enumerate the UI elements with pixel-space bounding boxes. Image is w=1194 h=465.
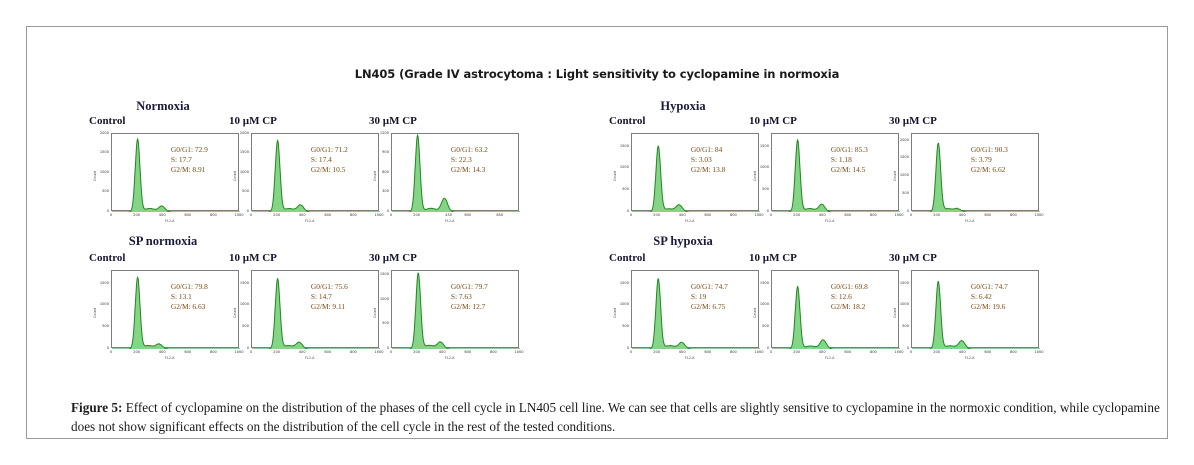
y-axis-label: Count <box>373 308 377 318</box>
plot-area: G0/G1: 74.7S: 6.42G2/M: 19.6 <box>911 270 1039 348</box>
x-axis-tick: 0 <box>621 350 641 354</box>
stat-g0g1: G0/G1: 74.7 <box>691 282 728 292</box>
group-label-hypoxia: Hypoxia <box>623 99 743 114</box>
stat-g0g1: G0/G1: 79.8 <box>171 282 208 292</box>
x-axis-tick: 0 <box>381 350 401 354</box>
y-axis-tick: 2000 <box>89 131 109 135</box>
x-axis-tick: 600 <box>318 213 338 217</box>
stat-g0g1: G0/G1: 74.7 <box>971 282 1008 292</box>
y-axis-tick: 1500 <box>749 144 769 148</box>
stat-g2m: G2/M: 8.91 <box>171 165 208 175</box>
stat-g2m: G2/M: 14.3 <box>451 165 488 175</box>
y-axis-tick: 1500 <box>609 281 629 285</box>
x-axis-tick: 0 <box>101 213 121 217</box>
y-axis-tick: 500 <box>369 321 389 325</box>
stat-g2m: G2/M: 6.63 <box>171 302 208 312</box>
x-axis-label: FL2-A <box>685 219 694 223</box>
plot-wrapper: G0/G1: 75.6S: 14.7G2/M: 9.11050010001500… <box>229 270 379 362</box>
plot-wrapper: G0/G1: 63.2S: 22.3G2/M: 14.3030060090012… <box>369 133 519 225</box>
x-axis-tick: 200 <box>407 350 427 354</box>
stat-g0g1: G0/G1: 85.3 <box>831 145 868 155</box>
x-axis-tick: 400 <box>952 213 972 217</box>
stat-g2m: G2/M: 12.7 <box>451 302 488 312</box>
y-axis-tick: 1000 <box>889 302 909 306</box>
y-axis-tick: 1500 <box>89 150 109 154</box>
x-axis-tick: 800 <box>203 213 223 217</box>
plot-area: G0/G1: 85.3S: 1.18G2/M: 14.5 <box>771 133 899 211</box>
group-label-sp-normoxia: SP normoxia <box>98 234 228 249</box>
plot-area: G0/G1: 79.7S: 7.63G2/M: 12.7 <box>391 270 519 348</box>
stat-s: S: 6.42 <box>971 292 1008 302</box>
y-axis-label: Count <box>753 308 757 318</box>
x-axis-tick: 600 <box>838 350 858 354</box>
stat-g0g1: G0/G1: 90.3 <box>971 145 1008 155</box>
x-axis-label: FL2-A <box>445 219 454 223</box>
x-axis-tick: 200 <box>267 213 287 217</box>
x-axis-tick: 800 <box>343 213 363 217</box>
x-axis-tick: 800 <box>343 350 363 354</box>
x-axis-tick: 600 <box>698 350 718 354</box>
x-axis-tick: 0 <box>901 350 921 354</box>
plot-wrapper: G0/G1: 74.7S: 19G2/M: 6.7505001000150002… <box>609 270 759 362</box>
x-axis-tick: 400 <box>432 350 452 354</box>
y-axis-tick: 1500 <box>229 150 249 154</box>
stat-s: S: 22.3 <box>451 155 488 165</box>
y-axis-tick: 1000 <box>229 170 249 174</box>
x-axis-label: FL2-A <box>165 356 174 360</box>
caption-text: Effect of cyclopamine on the distributio… <box>71 400 1160 434</box>
caption-label: Figure 5: <box>71 400 122 415</box>
plot-area: G0/G1: 69.8S: 12.6G2/M: 18.2 <box>771 270 899 348</box>
plot-area: G0/G1: 90.3S: 3.79G2/M: 6.62 <box>911 133 1039 211</box>
x-axis-tick: 800 <box>1003 350 1023 354</box>
x-axis-tick: 400 <box>812 350 832 354</box>
stat-s: S: 3.79 <box>971 155 1008 165</box>
y-axis-tick: 1500 <box>609 144 629 148</box>
x-axis-tick: 850 <box>490 213 510 217</box>
panel-stats: G0/G1: 85.3S: 1.18G2/M: 14.5 <box>831 145 868 175</box>
stat-s: S: 12.6 <box>831 292 868 302</box>
y-axis-label: Count <box>613 171 617 181</box>
x-axis-tick: 200 <box>787 350 807 354</box>
x-axis-tick: 600 <box>178 213 198 217</box>
stat-s: S: 13.1 <box>171 292 208 302</box>
panel-stats: G0/G1: 79.7S: 7.63G2/M: 12.7 <box>451 282 488 312</box>
figure-page: LN405 (Grade IV astrocytoma : Light sens… <box>0 0 1194 465</box>
stat-g0g1: G0/G1: 72.9 <box>171 145 208 155</box>
stat-s: S: 17.7 <box>171 155 208 165</box>
stat-g2m: G2/M: 19.6 <box>971 302 1008 312</box>
y-axis-tick: 1500 <box>749 281 769 285</box>
stat-s: S: 1.18 <box>831 155 868 165</box>
x-axis-label: FL2-A <box>445 356 454 360</box>
stat-s: S: 3.03 <box>691 155 726 165</box>
x-axis-tick: 600 <box>458 350 478 354</box>
stat-g0g1: G0/G1: 75.6 <box>311 282 348 292</box>
y-axis-label: Count <box>893 171 897 181</box>
stat-s: S: 17.4 <box>311 155 348 165</box>
y-axis-label: Count <box>613 308 617 318</box>
x-axis-tick: 200 <box>127 350 147 354</box>
y-axis-tick: 600 <box>369 170 389 174</box>
x-axis-tick: 1000 <box>1029 213 1049 217</box>
x-axis-tick: 0 <box>621 213 641 217</box>
plot-wrapper: G0/G1: 72.9S: 17.7G2/M: 8.91050010001500… <box>89 133 239 225</box>
stat-g0g1: G0/G1: 69.8 <box>831 282 868 292</box>
plot-area: G0/G1: 74.7S: 19G2/M: 6.75 <box>631 270 759 348</box>
x-axis-tick: 800 <box>863 213 883 217</box>
x-axis-tick: 600 <box>698 213 718 217</box>
x-axis-tick: 1000 <box>1029 350 1049 354</box>
y-axis-label: Count <box>373 171 377 181</box>
x-axis-tick: 400 <box>812 213 832 217</box>
y-axis-tick: 500 <box>749 187 769 191</box>
plot-area: G0/G1: 63.2S: 22.3G2/M: 14.3 <box>391 133 519 211</box>
plot-wrapper: G0/G1: 90.3S: 3.79G2/M: 6.62050010001500… <box>889 133 1039 225</box>
x-axis-tick: 600 <box>978 213 998 217</box>
y-axis-label: Count <box>753 171 757 181</box>
panel-stats: G0/G1: 74.7S: 19G2/M: 6.75 <box>691 282 728 312</box>
stat-g2m: G2/M: 18.2 <box>831 302 868 312</box>
y-axis-tick: 1000 <box>609 165 629 169</box>
x-axis-label: FL2-A <box>685 356 694 360</box>
x-axis-label: FL2-A <box>825 219 834 223</box>
panel-stats: G0/G1: 79.8S: 13.1G2/M: 6.63 <box>171 282 208 312</box>
x-axis-tick: 800 <box>723 350 743 354</box>
plot-wrapper: G0/G1: 84S: 3.03G2/M: 13.805001000150002… <box>609 133 759 225</box>
stat-s: S: 7.63 <box>451 292 488 302</box>
y-axis-label: Count <box>93 171 97 181</box>
plot-area: G0/G1: 75.6S: 14.7G2/M: 9.11 <box>251 270 379 348</box>
x-axis-tick: 200 <box>787 213 807 217</box>
x-axis-label: FL2-A <box>825 356 834 360</box>
x-axis-tick: 600 <box>838 213 858 217</box>
plot-wrapper: G0/G1: 85.3S: 1.18G2/M: 14.5050010001500… <box>749 133 899 225</box>
y-axis-tick: 1500 <box>889 155 909 159</box>
x-axis-tick: 800 <box>483 350 503 354</box>
x-axis-tick: 400 <box>152 213 172 217</box>
x-axis-tick: 600 <box>318 350 338 354</box>
y-axis-tick: 500 <box>229 189 249 193</box>
plot-area: G0/G1: 72.9S: 17.7G2/M: 8.91 <box>111 133 239 211</box>
x-axis-tick: 800 <box>203 350 223 354</box>
plot-wrapper: G0/G1: 71.2S: 17.4G2/M: 10.5050010001500… <box>229 133 379 225</box>
panel-stats: G0/G1: 69.8S: 12.6G2/M: 18.2 <box>831 282 868 312</box>
panel-stats: G0/G1: 90.3S: 3.79G2/M: 6.62 <box>971 145 1008 175</box>
plot-area: G0/G1: 79.8S: 13.1G2/M: 6.63 <box>111 270 239 348</box>
plot-wrapper: G0/G1: 79.7S: 7.63G2/M: 12.7050010001500… <box>369 270 519 362</box>
stat-g2m: G2/M: 14.5 <box>831 165 868 175</box>
panel-stats: G0/G1: 75.6S: 14.7G2/M: 9.11 <box>311 282 348 312</box>
y-axis-label: Count <box>893 308 897 318</box>
plot-wrapper: G0/G1: 74.7S: 6.42G2/M: 19.6050010001500… <box>889 270 1039 362</box>
stat-g2m: G2/M: 6.62 <box>971 165 1008 175</box>
y-axis-tick: 1000 <box>749 165 769 169</box>
plot-wrapper: G0/G1: 79.8S: 13.1G2/M: 6.63050010001500… <box>89 270 239 362</box>
y-axis-tick: 500 <box>89 189 109 193</box>
x-axis-tick: 200 <box>927 350 947 354</box>
x-axis-tick: 450 <box>439 213 459 217</box>
y-axis-tick: 500 <box>889 324 909 328</box>
x-axis-label: FL2-A <box>965 219 974 223</box>
x-axis-label: FL2-A <box>165 219 174 223</box>
x-axis-tick: 800 <box>723 213 743 217</box>
y-axis-tick: 500 <box>609 187 629 191</box>
y-axis-tick: 1000 <box>89 302 109 306</box>
stat-g2m: G2/M: 13.8 <box>691 165 726 175</box>
y-axis-tick: 1000 <box>889 173 909 177</box>
stat-g0g1: G0/G1: 84 <box>691 145 726 155</box>
x-axis-tick: 0 <box>241 350 261 354</box>
x-axis-tick: 200 <box>267 350 287 354</box>
y-axis-tick: 1000 <box>89 170 109 174</box>
y-axis-tick: 1500 <box>229 281 249 285</box>
y-axis-tick: 1500 <box>89 281 109 285</box>
figure-title: LN405 (Grade IV astrocytoma : Light sens… <box>27 67 1167 81</box>
y-axis-tick: 500 <box>89 324 109 328</box>
x-axis-tick: 0 <box>241 213 261 217</box>
y-axis-tick: 1000 <box>369 297 389 301</box>
x-axis-tick: 400 <box>152 350 172 354</box>
x-axis-label: FL2-A <box>965 356 974 360</box>
x-axis-tick: 600 <box>978 350 998 354</box>
y-axis-tick: 500 <box>749 324 769 328</box>
panel-stats: G0/G1: 72.9S: 17.7G2/M: 8.91 <box>171 145 208 175</box>
x-axis-tick: 0 <box>101 350 121 354</box>
y-axis-tick: 2000 <box>889 138 909 142</box>
y-axis-label: Count <box>233 308 237 318</box>
panel-stats: G0/G1: 84S: 3.03G2/M: 13.8 <box>691 145 726 175</box>
panel-stats: G0/G1: 71.2S: 17.4G2/M: 10.5 <box>311 145 348 175</box>
panel-stats: G0/G1: 74.7S: 6.42G2/M: 19.6 <box>971 282 1008 312</box>
stat-g0g1: G0/G1: 79.7 <box>451 282 488 292</box>
y-axis-tick: 500 <box>609 324 629 328</box>
stat-s: S: 14.7 <box>311 292 348 302</box>
y-axis-tick: 1500 <box>889 281 909 285</box>
panel-stats: G0/G1: 63.2S: 22.3G2/M: 14.3 <box>451 145 488 175</box>
y-axis-tick: 2000 <box>229 131 249 135</box>
x-axis-tick: 400 <box>952 350 972 354</box>
group-label-sp-hypoxia: SP hypoxia <box>618 234 748 249</box>
y-axis-label: Count <box>233 171 237 181</box>
x-axis-tick: 400 <box>292 213 312 217</box>
x-axis-tick: 200 <box>407 213 427 217</box>
y-axis-tick: 1200 <box>369 131 389 135</box>
x-axis-tick: 200 <box>647 213 667 217</box>
x-axis-tick: 400 <box>672 213 692 217</box>
y-axis-tick: 900 <box>369 150 389 154</box>
y-axis-tick: 1000 <box>229 302 249 306</box>
x-axis-tick: 600 <box>458 213 478 217</box>
x-axis-label: FL2-A <box>305 219 314 223</box>
y-axis-tick: 300 <box>369 189 389 193</box>
stat-g2m: G2/M: 6.75 <box>691 302 728 312</box>
x-axis-tick: 200 <box>647 350 667 354</box>
x-axis-tick: 800 <box>1003 213 1023 217</box>
figure-frame: LN405 (Grade IV astrocytoma : Light sens… <box>26 26 1168 439</box>
y-axis-tick: 500 <box>229 324 249 328</box>
plot-area: G0/G1: 84S: 3.03G2/M: 13.8 <box>631 133 759 211</box>
y-axis-tick: 1000 <box>749 302 769 306</box>
x-axis-tick: 400 <box>292 350 312 354</box>
plot-wrapper: G0/G1: 69.8S: 12.6G2/M: 18.2050010001500… <box>749 270 899 362</box>
stat-g2m: G2/M: 9.11 <box>311 302 348 312</box>
x-axis-tick: 0 <box>761 350 781 354</box>
x-axis-tick: 1000 <box>509 350 529 354</box>
stat-s: S: 19 <box>691 292 728 302</box>
stat-g0g1: G0/G1: 63.2 <box>451 145 488 155</box>
y-axis-tick: 1000 <box>609 302 629 306</box>
group-label-normoxia: Normoxia <box>103 99 223 114</box>
x-axis-tick: 200 <box>927 213 947 217</box>
figure-caption: Figure 5: Effect of cyclopamine on the d… <box>71 399 1175 436</box>
stat-g0g1: G0/G1: 71.2 <box>311 145 348 155</box>
stat-g2m: G2/M: 10.5 <box>311 165 348 175</box>
y-axis-tick: 1500 <box>369 272 389 276</box>
y-axis-label: Count <box>93 308 97 318</box>
x-axis-tick: 400 <box>672 350 692 354</box>
x-axis-tick: 0 <box>381 213 401 217</box>
x-axis-label: FL2-A <box>305 356 314 360</box>
x-axis-tick: 600 <box>178 350 198 354</box>
x-axis-tick: 800 <box>863 350 883 354</box>
plot-area: G0/G1: 71.2S: 17.4G2/M: 10.5 <box>251 133 379 211</box>
x-axis-tick: 200 <box>127 213 147 217</box>
y-axis-tick: 500 <box>889 191 909 195</box>
x-axis-tick: 0 <box>761 213 781 217</box>
x-axis-tick: 0 <box>901 213 921 217</box>
